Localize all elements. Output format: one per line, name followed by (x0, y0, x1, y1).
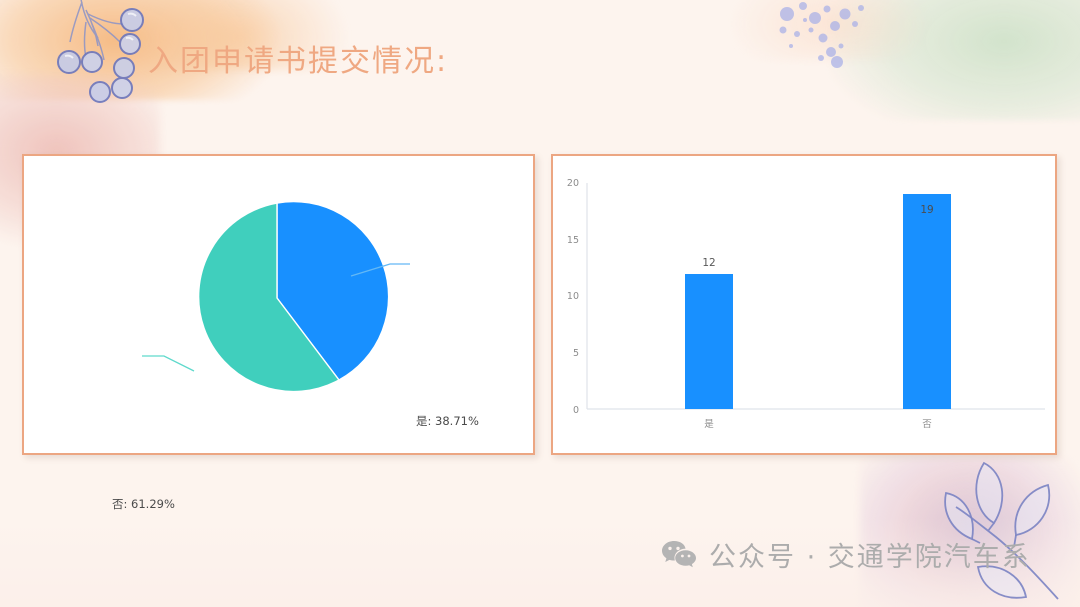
pie-chart: 是: 38.71% 否: 61.29% (24, 156, 533, 453)
bar-category-label-no: 否 (922, 419, 932, 430)
pink-watercolor-wash-bottom-right (860, 457, 1080, 607)
peach-watercolor-wash-top-right (730, 0, 930, 60)
bar-chart-svg: 20 15 10 5 0 12 是 19 否 (553, 156, 1055, 453)
pie-label-no: 否: 61.29% (112, 496, 175, 512)
bar-no[interactable] (903, 194, 951, 409)
y-tick-label-0: 0 (573, 405, 579, 416)
wechat-icon (662, 540, 696, 569)
green-watercolor-wash-top-right (830, 0, 1080, 120)
bar-value-label-yes: 12 (702, 257, 715, 269)
bar-category-label-yes: 是 (704, 419, 714, 430)
y-tick-label-10: 10 (567, 291, 579, 302)
bar-chart-panel: 20 15 10 5 0 12 是 19 否 (551, 154, 1057, 455)
pie-label-yes: 是: 38.71% (416, 413, 479, 429)
bar-value-label-no: 19 (920, 204, 933, 216)
paint-splatter-decoration (775, 0, 895, 95)
pie-chart-svg (24, 156, 533, 453)
leaf-branch-decoration (922, 451, 1072, 601)
bar-yes[interactable] (685, 274, 733, 409)
y-tick-label-15: 15 (567, 235, 579, 246)
lavender-watercolor-wash-bottom-right (900, 467, 1050, 597)
footer-watermark: 公众号 · 交通学院汽车系 (662, 535, 1031, 574)
y-tick-label-20: 20 (567, 178, 579, 189)
pie-chart-panel: 是: 38.71% 否: 61.29% (22, 154, 535, 455)
pie-leader-line-no (142, 356, 194, 371)
footer-text: 公众号 · 交通学院汽车系 (709, 535, 1031, 574)
y-tick-label-5: 5 (573, 348, 579, 359)
page-title: 入团申请书提交情况: (148, 36, 448, 80)
